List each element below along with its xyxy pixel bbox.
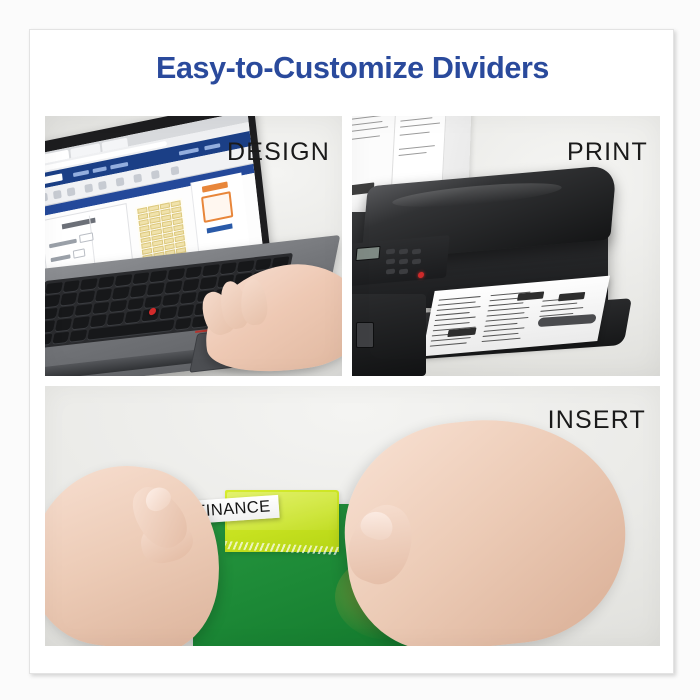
form-field-input[interactable] xyxy=(73,248,86,258)
key xyxy=(130,285,148,297)
printer-memory-card-slot[interactable] xyxy=(356,322,374,348)
preview-selected-label xyxy=(201,191,233,223)
paper-text-line xyxy=(352,121,382,126)
panel-label-insert: INSERT xyxy=(548,406,646,435)
printed-tab-marker xyxy=(517,291,544,300)
key xyxy=(164,281,182,293)
toolbar-icon xyxy=(171,166,180,176)
printed-text-line xyxy=(488,302,523,306)
key xyxy=(144,296,162,308)
printed-text-line xyxy=(483,327,524,332)
key xyxy=(199,277,217,289)
toolbar-icon xyxy=(67,187,76,197)
key xyxy=(52,331,70,343)
key xyxy=(182,279,200,291)
key xyxy=(92,302,110,314)
key xyxy=(124,311,142,323)
key xyxy=(80,278,98,290)
key xyxy=(179,292,197,304)
printed-text-line xyxy=(438,301,476,306)
key xyxy=(202,264,220,276)
key xyxy=(110,300,128,312)
panel-insert: FINANCE INSERT xyxy=(45,386,660,646)
key xyxy=(45,320,55,332)
key xyxy=(77,291,95,303)
printed-text-line xyxy=(482,333,518,338)
app-menu-item xyxy=(73,170,89,177)
paper-text-line xyxy=(352,135,380,140)
app-menu-item xyxy=(110,162,128,170)
key xyxy=(174,317,192,329)
toolbar-icon xyxy=(84,183,93,193)
key xyxy=(72,316,90,328)
key xyxy=(115,274,133,286)
key xyxy=(97,276,115,288)
printed-text-line xyxy=(434,322,470,327)
toolbar-icon xyxy=(151,170,160,180)
key xyxy=(57,306,75,318)
printed-text-line xyxy=(439,296,481,301)
printed-text-line xyxy=(437,306,481,311)
paper-text-line xyxy=(399,145,435,150)
app-logo xyxy=(45,173,63,185)
page-title: Easy-to-Customize Dividers xyxy=(30,51,675,86)
toolbar-icon xyxy=(133,173,142,183)
panel-print: PRINT xyxy=(352,116,660,376)
printed-text-line xyxy=(487,307,529,312)
key xyxy=(62,280,80,292)
printed-text-line xyxy=(485,317,528,322)
key xyxy=(162,294,180,306)
key xyxy=(60,293,78,305)
key xyxy=(237,260,255,272)
paper-text-line xyxy=(399,152,427,156)
printed-text-line xyxy=(486,312,524,317)
key xyxy=(112,287,130,299)
key xyxy=(89,314,107,326)
paper-text-line xyxy=(400,132,430,136)
printer-lcd-display xyxy=(355,246,380,261)
preview-tab-strip xyxy=(202,181,228,192)
paper-text-line xyxy=(352,126,388,132)
product-image-canvas: Easy-to-Customize Dividers xyxy=(0,0,700,700)
panel-design: DESIGN xyxy=(45,116,342,376)
key xyxy=(45,295,60,307)
key xyxy=(147,283,165,295)
panel-label-print: PRINT xyxy=(567,138,648,167)
key xyxy=(219,262,237,274)
printed-text-line xyxy=(435,317,476,322)
key xyxy=(69,329,87,341)
key xyxy=(159,307,177,319)
key xyxy=(185,266,203,278)
form-field-label xyxy=(49,239,77,249)
app-menu-item xyxy=(204,143,220,150)
key xyxy=(127,298,145,310)
paper-text-line xyxy=(400,117,432,121)
printed-text-line xyxy=(431,337,471,342)
key xyxy=(55,318,73,330)
product-card: Easy-to-Customize Dividers xyxy=(29,29,674,674)
key xyxy=(45,282,63,294)
printed-text-line xyxy=(541,303,577,308)
key xyxy=(132,272,150,284)
printed-text-line xyxy=(481,338,520,343)
printed-text-line xyxy=(436,312,470,316)
key xyxy=(177,305,195,317)
key xyxy=(95,289,113,301)
printed-text-line xyxy=(540,307,583,312)
form-field-label xyxy=(51,254,71,262)
printed-text-line xyxy=(484,323,517,327)
key xyxy=(75,304,93,316)
key xyxy=(45,333,52,345)
toolbar-icon xyxy=(53,190,62,200)
printed-text-line xyxy=(430,342,467,347)
key xyxy=(107,312,125,324)
key xyxy=(150,270,168,282)
app-menu-item xyxy=(93,166,107,173)
printed-text-column xyxy=(429,292,486,351)
toolbar-icon xyxy=(45,193,48,203)
toolbar-icon xyxy=(98,181,107,191)
toolbar-icon xyxy=(116,177,125,187)
paper-text-line xyxy=(400,122,440,127)
key xyxy=(45,308,57,320)
paper-text-line xyxy=(352,116,387,120)
key xyxy=(167,268,185,280)
app-menu-item xyxy=(179,148,199,156)
preview-footer-bar xyxy=(207,223,233,233)
panel-label-design: DESIGN xyxy=(227,138,330,167)
